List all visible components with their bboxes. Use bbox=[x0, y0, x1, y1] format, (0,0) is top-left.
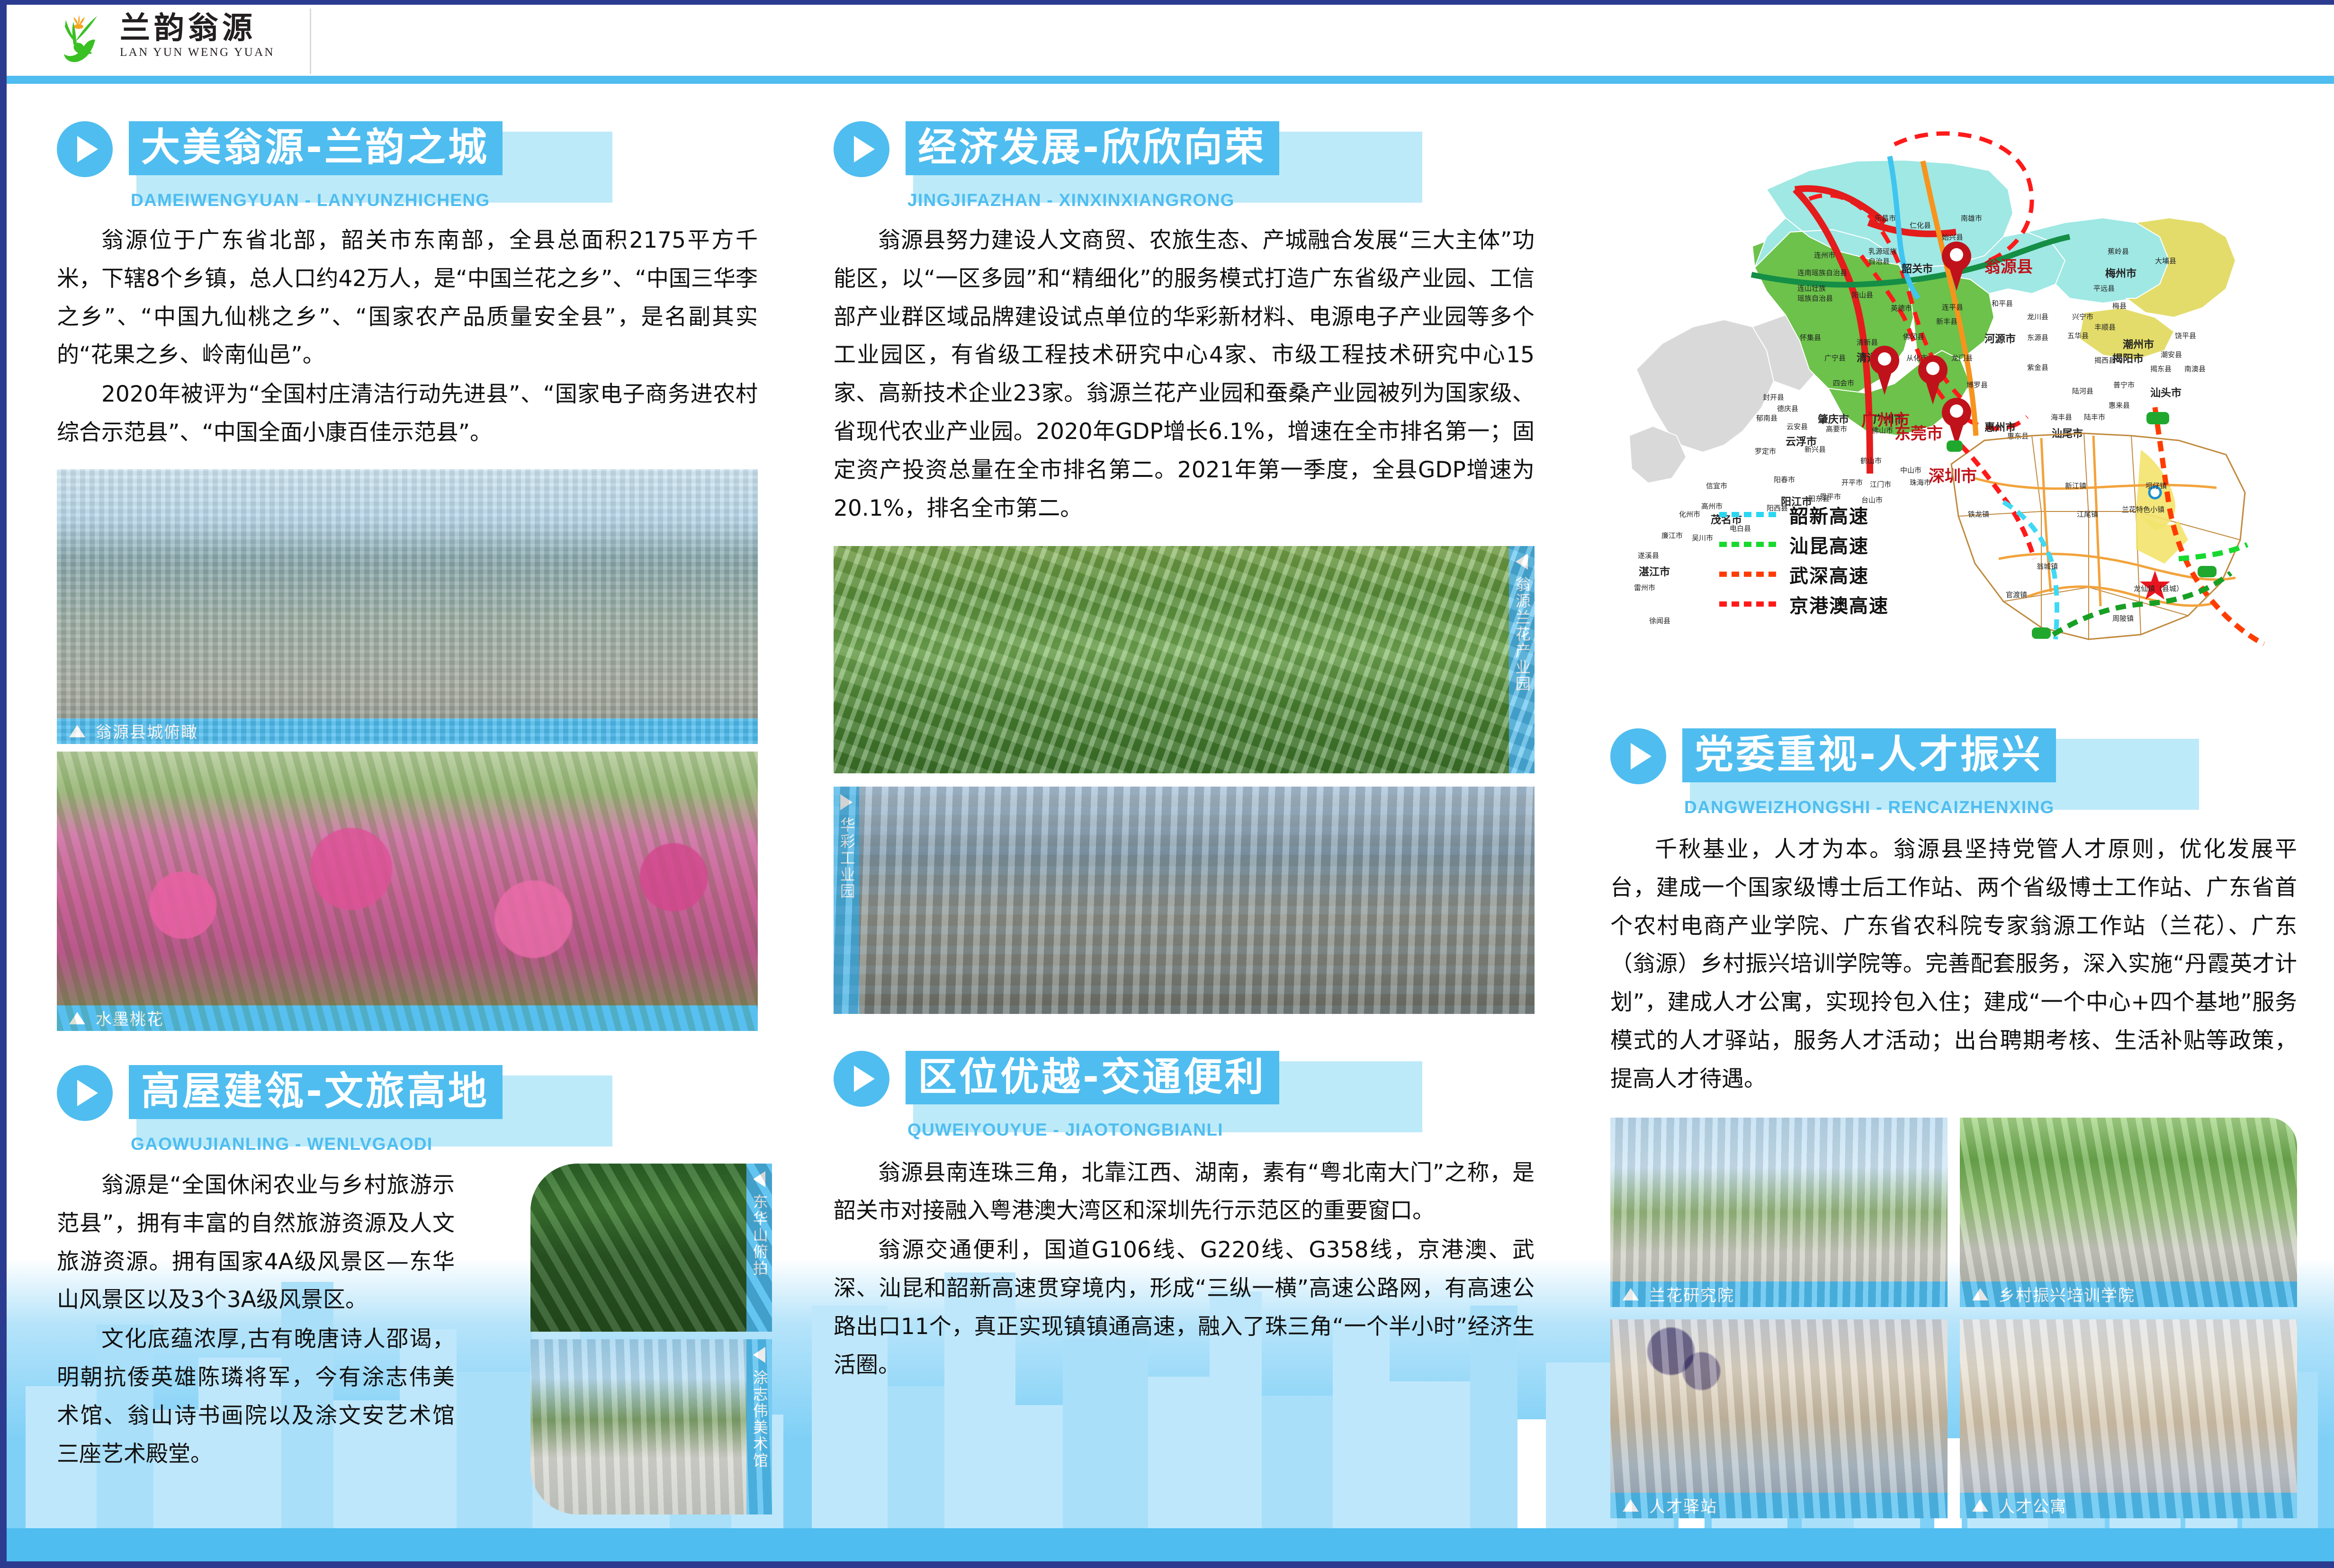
orchid-logo-icon bbox=[52, 8, 108, 64]
masthead-underline bbox=[7, 76, 2334, 84]
photo-caption: 华彩工业园 bbox=[834, 787, 859, 1014]
brand-logo: 兰韵翁源 LAN YUN WENG YUAN bbox=[52, 8, 275, 64]
section-header-dangwei: 党委重视-人才振兴 DANGWEIZHONGSHI - RENCAIZHENXI… bbox=[1610, 726, 2297, 811]
photo-tuzhiwei-museum: 涂志伟美术馆 bbox=[530, 1339, 772, 1514]
frame-bottom bbox=[0, 1561, 2334, 1568]
section-title: 区位优越-交通便利 bbox=[918, 1057, 1266, 1097]
legend-item: 韶新高速 bbox=[1719, 500, 1889, 529]
section-title-banner: 高屋建瓴-文旅高地 bbox=[129, 1065, 503, 1119]
photo-caption: 人才驿站 bbox=[1610, 1493, 1948, 1518]
photo-caption: 乡村振兴培训学院 bbox=[1960, 1281, 2297, 1307]
paragraph: 翁源县南连珠三角，北靠江西、湖南，素有“粤北南大门”之称，是韶关市对接融入粤港澳… bbox=[834, 1154, 1535, 1231]
play-icon bbox=[57, 1065, 113, 1121]
photo-caption: 翁源县城俯瞰 bbox=[57, 718, 758, 744]
section-pinyin: GAOWUJIANLING - WENLVGAODI bbox=[131, 1134, 432, 1154]
section-pinyin: JINGJIFAZHAN - XINXINXIANGRONG bbox=[907, 190, 1235, 210]
legend-swatch bbox=[1719, 601, 1776, 607]
triangle-right-icon bbox=[840, 794, 853, 810]
photo-donghua-aerial: 东华山俯拍 bbox=[530, 1164, 772, 1332]
guangdong-map: 乐昌市 仁化县 南雄市 连州市 乳源瑶族自治县 始兴县 韶关市 连南瑶族自治县 … bbox=[1610, 104, 2297, 663]
frame-top bbox=[0, 0, 2334, 5]
section-title-banner: 区位优越-交通便利 bbox=[906, 1051, 1279, 1105]
section-title-banner: 经济发展-欣欣向荣 bbox=[906, 121, 1279, 175]
section-header-quwei: 区位优越-交通便利 QUWEIYOUYUE - JIAOTONGBIANLI bbox=[834, 1048, 1535, 1133]
bottom-band bbox=[7, 1528, 2334, 1561]
paragraph: 翁源交通便利，国道G106线、G220线、G358线，京港澳、武深、汕昆和韶新高… bbox=[834, 1231, 1535, 1384]
photo-caption: 翁源兰花产业园 bbox=[1509, 546, 1535, 773]
triangle-up-icon bbox=[1623, 1499, 1639, 1512]
triangle-up-icon bbox=[1972, 1288, 1988, 1300]
triangle-left-icon bbox=[753, 1347, 765, 1363]
photo-orchid-institute: 兰花研究院 bbox=[1610, 1118, 1948, 1307]
section-title-banner: 大美翁源-兰韵之城 bbox=[129, 121, 503, 175]
photo-caption: 涂志伟美术馆 bbox=[746, 1339, 772, 1514]
masthead: 兰韵翁源 LAN YUN WENG YUAN bbox=[7, 5, 2334, 76]
legend-item: 京港澳高速 bbox=[1719, 589, 1889, 619]
paragraph: 2020年被评为“全国村庄清洁行动先进县”、“国家电子商务进农村综合示范县”、“… bbox=[57, 376, 758, 452]
column-right: 乐昌市 仁化县 南雄市 连州市 乳源瑶族自治县 始兴县 韶关市 连南瑶族自治县 … bbox=[1610, 118, 2297, 1518]
photo-talent-apartment: 人才公寓 bbox=[1960, 1319, 2297, 1518]
legend-swatch bbox=[1719, 542, 1776, 547]
section-header-gaowu: 高屋建瓴-文旅高地 GAOWUJIANLING - WENLVGAODI bbox=[57, 1062, 758, 1147]
photo-peach-blossom: 水墨桃花 bbox=[57, 752, 758, 1031]
masthead-divider bbox=[310, 9, 311, 74]
column-left: 大美翁源-兰韵之城 DAMEIWENGYUAN - LANYUNZHICHENG… bbox=[57, 118, 758, 1475]
paragraph: 翁源位于广东省北部，韶关市东南部，全县总面积2175平方千米，下辖8个乡镇，总人… bbox=[57, 222, 758, 375]
triangle-left-icon bbox=[1516, 554, 1528, 570]
photo-county-aerial: 翁源县城俯瞰 bbox=[57, 469, 758, 744]
paragraph: 文化底蕴浓厚,古有晚唐诗人邵谒，明朝抗倭英雄陈璘将军，今有涂志伟美术馆、翁山诗书… bbox=[57, 1320, 455, 1473]
section-pinyin: DANGWEIZHONGSHI - RENCAIZHENXING bbox=[1684, 797, 2055, 817]
section-title: 高屋建瓴-文旅高地 bbox=[141, 1072, 489, 1111]
play-icon bbox=[1610, 728, 1666, 784]
triangle-up-icon bbox=[1972, 1499, 1988, 1512]
triangle-up-icon bbox=[69, 1012, 85, 1024]
photo-caption: 人才公寓 bbox=[1960, 1493, 2297, 1518]
frame-left bbox=[0, 0, 7, 1568]
triangle-left-icon bbox=[753, 1171, 765, 1187]
triangle-up-icon bbox=[69, 725, 85, 737]
triangle-up-icon bbox=[1623, 1288, 1639, 1300]
play-icon bbox=[834, 1051, 889, 1107]
column-middle: 经济发展-欣欣向荣 JINGJIFAZHAN - XINXINXIANGRONG… bbox=[834, 118, 1535, 1386]
legend-item: 汕昆高速 bbox=[1719, 529, 1889, 559]
legend-swatch bbox=[1719, 512, 1776, 517]
play-icon bbox=[834, 121, 889, 177]
photo-huacai-park: 华彩工业园 bbox=[834, 787, 1535, 1014]
section-title: 大美翁源-兰韵之城 bbox=[141, 128, 489, 168]
photo-rural-college: 乡村振兴培训学院 bbox=[1960, 1118, 2297, 1307]
photo-caption: 东华山俯拍 bbox=[746, 1164, 772, 1332]
section-pinyin: DAMEIWENGYUAN - LANYUNZHICHENG bbox=[131, 190, 490, 210]
brand-name-en: LAN YUN WENG YUAN bbox=[120, 46, 275, 59]
play-icon bbox=[57, 121, 113, 177]
section-title-banner: 党委重视-人才振兴 bbox=[1682, 728, 2056, 782]
paragraph: 翁源是“全国休闲农业与乡村旅游示范县”，拥有丰富的自然旅游资源及人文旅游资源。拥… bbox=[57, 1166, 455, 1319]
paragraph: 翁源县努力建设人文商贸、农旅生态、产城融合发展“三大主体”功能区，以“一区多园”… bbox=[834, 222, 1535, 528]
legend-item: 武深高速 bbox=[1719, 559, 1889, 589]
map-legend: 韶新高速 汕昆高速 武深高速 京港澳高速 bbox=[1719, 500, 1889, 619]
photo-caption: 兰花研究院 bbox=[1610, 1281, 1948, 1307]
section-header-jingji: 经济发展-欣欣向荣 JINGJIFAZHAN - XINXINXIANGRONG bbox=[834, 118, 1535, 204]
photo-caption: 水墨桃花 bbox=[57, 1005, 758, 1031]
paragraph: 千秋基业，人才为本。翁源县坚持党管人才原则，优化发展平台，建成一个国家级博士后工… bbox=[1610, 831, 2297, 1099]
section-pinyin: QUWEIYOUYUE - JIAOTONGBIANLI bbox=[907, 1120, 1223, 1140]
brand-name-cn: 兰韵翁源 bbox=[120, 13, 275, 44]
section-title: 经济发展-欣欣向荣 bbox=[918, 128, 1266, 168]
photo-talent-station: 人才驿站 bbox=[1610, 1319, 1948, 1518]
poster-page: 兰韵翁源 LAN YUN WENG YUAN 大美翁源-兰韵之城 DAMEIWE… bbox=[0, 0, 2334, 1568]
legend-swatch bbox=[1719, 572, 1776, 577]
map-pin-label: 翁源县 bbox=[1984, 254, 2033, 277]
photo-orchid-park: 翁源兰花产业园 bbox=[834, 546, 1535, 773]
section-header-damei: 大美翁源-兰韵之城 DAMEIWENGYUAN - LANYUNZHICHENG bbox=[57, 118, 758, 204]
section-title: 党委重视-人才振兴 bbox=[1695, 735, 2043, 775]
